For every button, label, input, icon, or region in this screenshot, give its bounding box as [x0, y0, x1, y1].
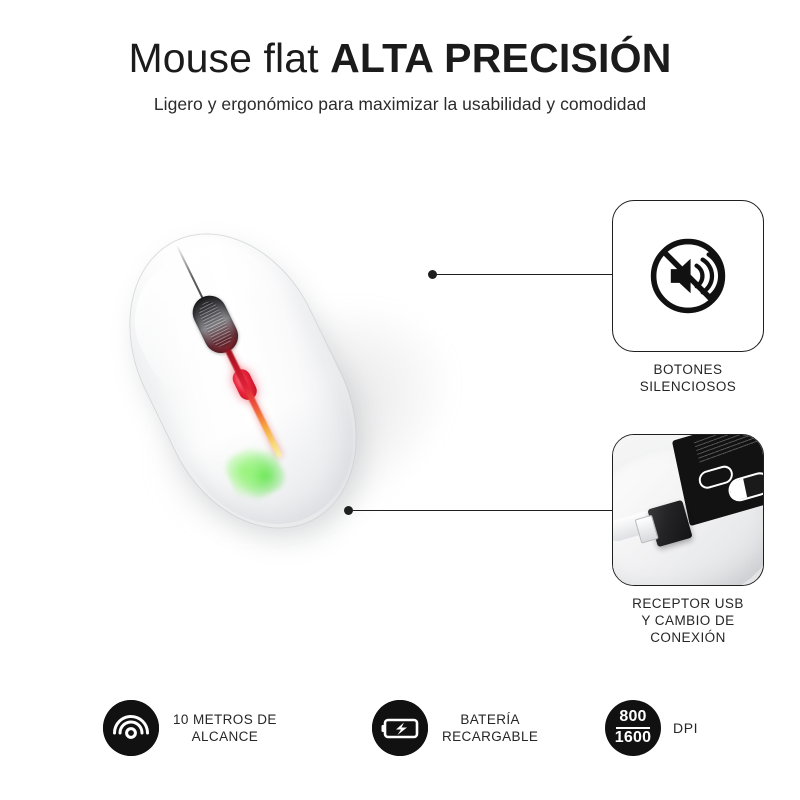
callout-label-line: SILENCIOSOS [612, 378, 764, 395]
header: Mouse flat ALTA PRECISIÓN Ligero y ergon… [0, 34, 800, 115]
feature-label-line: RECARGABLE [442, 728, 538, 745]
callout-box-silent-buttons [612, 200, 764, 352]
callout-silent-buttons: BOTONES SILENCIOSOS [612, 200, 764, 395]
feature-battery: BATERÍA RECARGABLE [372, 700, 538, 756]
led-light-strip [225, 348, 283, 458]
mute-speaker-icon [645, 233, 731, 319]
leader-line-silent-buttons [434, 274, 614, 276]
callout-label-line: Y CAMBIO DE [612, 612, 764, 629]
page-title: Mouse flat ALTA PRECISIÓN [0, 34, 800, 82]
leader-line-usb-receiver [350, 510, 612, 512]
dpi-unit-label: DPI [673, 720, 698, 736]
callout-label-line: RECEPTOR USB [612, 595, 764, 612]
label-fine-print [694, 434, 764, 464]
callout-label-line: CONEXIÓN [612, 629, 764, 646]
product-image [112, 196, 512, 596]
wireless-signal-badge [103, 700, 159, 756]
title-light-part: Mouse flat [128, 35, 330, 81]
dpi-badge: 800 1600 [605, 700, 661, 756]
scroll-wheel [187, 290, 244, 359]
dpi-value-low: 800 [605, 708, 661, 726]
title-strong-part: ALTA PRECISIÓN [330, 35, 671, 81]
product-infographic: Mouse flat ALTA PRECISIÓN Ligero y ergon… [0, 0, 800, 800]
feature-range: 10 METROS DE ALCANCE [103, 700, 277, 756]
callout-label-usb-receiver: RECEPTOR USB Y CAMBIO DE CONEXIÓN [612, 595, 764, 646]
feature-dpi: 800 1600 DPI [605, 700, 698, 756]
feature-label-range: 10 METROS DE ALCANCE [173, 711, 277, 745]
callout-label-line: BOTONES [612, 361, 764, 378]
callout-usb-receiver: RECEPTOR USB Y CAMBIO DE CONEXIÓN [612, 434, 764, 646]
feature-label-battery: BATERÍA RECARGABLE [442, 711, 538, 745]
feature-label-line: 10 METROS DE [173, 711, 277, 728]
callout-label-silent-buttons: BOTONES SILENCIOSOS [612, 361, 764, 395]
feature-label-line: BATERÍA [442, 711, 538, 728]
feature-label-line: ALCANCE [173, 728, 277, 745]
feature-strip: 10 METROS DE ALCANCE BATERÍA RECARGABLE … [0, 686, 800, 772]
wireless-signal-icon [103, 700, 159, 756]
callout-box-usb-receiver [612, 434, 764, 586]
rechargeable-battery-icon [372, 700, 428, 756]
mouse-button-seam [176, 245, 205, 303]
dpi-value-high: 1600 [605, 729, 661, 747]
usb-receiver-photo [613, 435, 763, 585]
battery-badge [372, 700, 428, 756]
page-subtitle: Ligero y ergonómico para maximizar la us… [0, 93, 800, 115]
